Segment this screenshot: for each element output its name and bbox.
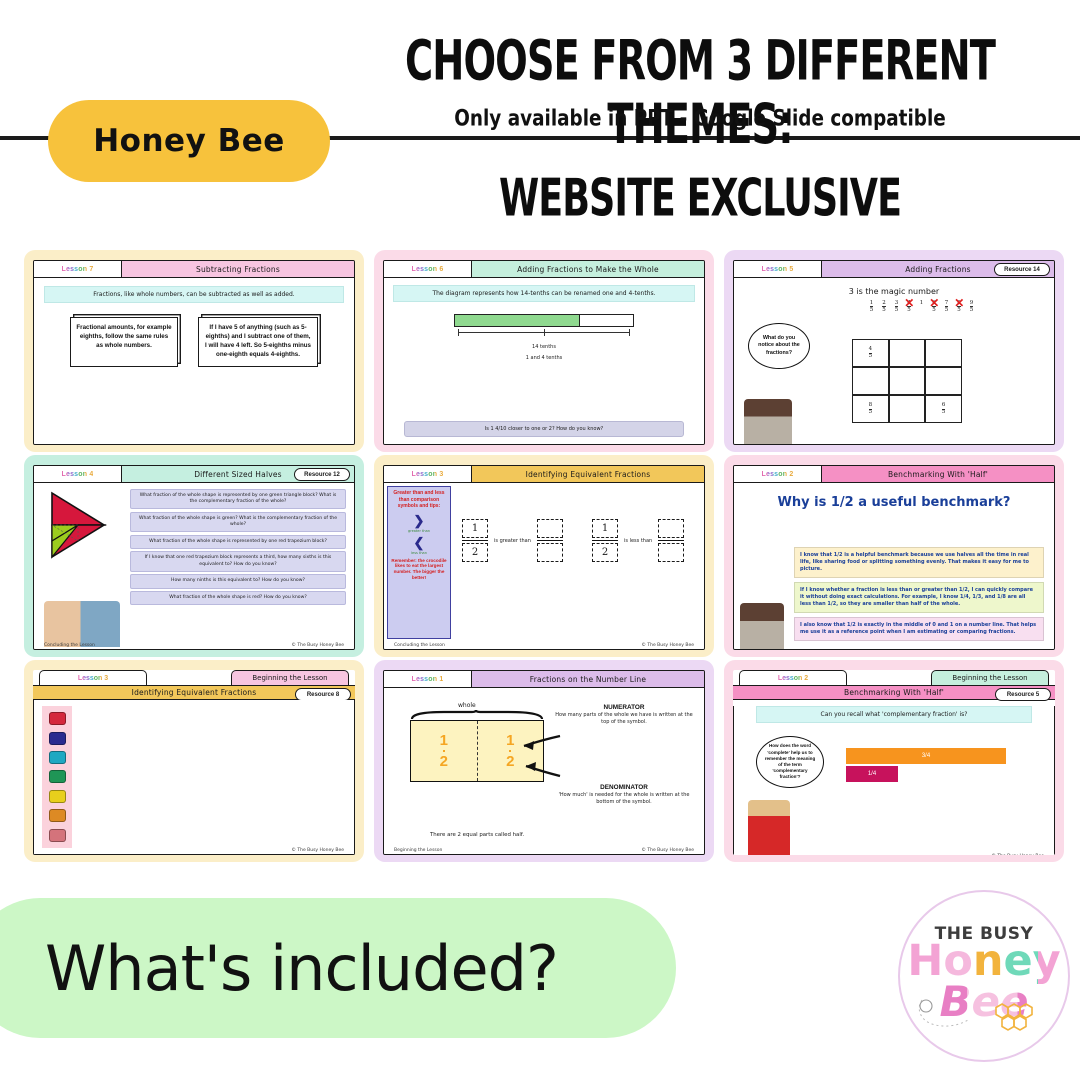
denominator-text: 'How much' is needed for the whole is wr…: [552, 792, 696, 806]
numerator-box[interactable]: [537, 519, 563, 538]
slide-footer-right: © The Busy Honey Bee: [991, 854, 1044, 855]
student-photo: [748, 800, 790, 855]
speech-bubble: How does the word 'complete' help us to …: [756, 736, 824, 788]
question-list: What fraction of the whole shape is repr…: [130, 489, 346, 608]
fraction-item: 25: [882, 300, 886, 313]
bar-orange: 3/4: [846, 748, 1006, 764]
color-swatch[interactable]: [49, 732, 66, 745]
question-item: What fraction of the whole shape is repr…: [130, 535, 346, 549]
magic-square-cell[interactable]: [889, 395, 926, 423]
denominator-box[interactable]: 2: [462, 543, 488, 562]
magic-square-cell[interactable]: [925, 339, 962, 367]
bar-pink: 1/4: [846, 766, 898, 782]
denominator-box[interactable]: [537, 543, 563, 562]
statement-box: If I know whether a fraction is less tha…: [794, 582, 1044, 613]
comparison-label: is less than: [624, 537, 652, 545]
lesson-badge: Lesson 2: [734, 466, 822, 482]
bee-trail-icon: [914, 990, 974, 1034]
bar-label-b: 1 and 4 tenths: [384, 355, 704, 361]
pattern-block-shape-icon: [42, 489, 124, 561]
slide-heading: Why is 1/2 a useful benchmark?: [734, 495, 1054, 510]
fraction-sequence: 15253545✕165✕7585✕95: [734, 300, 1054, 313]
lesson-badge: Lesson 6: [384, 261, 472, 277]
slide-thumbnail[interactable]: Lesson 4 Different Sized Halves Resource…: [24, 455, 364, 657]
color-swatch[interactable]: [49, 712, 66, 725]
lesson-badge: Lesson 2: [739, 670, 847, 685]
slide-title: Identifying Equivalent Fractions: [472, 470, 704, 479]
slide-thumbnail[interactable]: Lesson 6 Adding Fractions to Make the Wh…: [374, 250, 714, 452]
page-subtitle: Only available in PPT - Google Slide com…: [383, 104, 1018, 131]
arrows-icon: [502, 728, 564, 790]
lesson-badge: Lesson 7: [34, 261, 122, 277]
slide-title: Adding Fractions to Make the Whole: [472, 265, 704, 274]
question-item: What fraction of the whole shape is red?…: [130, 591, 346, 605]
tips-heading: Greater than and less than comparison sy…: [391, 490, 447, 510]
brand-logo: THE BUSY Honey Bee: [898, 890, 1070, 1062]
speech-bubble: What do you notice about the fractions?: [748, 323, 810, 369]
theme-pill-honey-bee[interactable]: Honey Bee: [48, 100, 330, 182]
whole-label: whole: [458, 702, 476, 709]
greater-than-icon: ❯: [391, 513, 447, 529]
less-than-label: less than: [391, 551, 447, 555]
info-band: The diagram represents how 14-tenths can…: [393, 285, 695, 302]
question-item: What fraction of the whole shape is repr…: [130, 489, 346, 509]
magic-square-cell[interactable]: [889, 339, 926, 367]
cross-out-icon: ✕: [929, 297, 939, 311]
slide-thumbnail[interactable]: Lesson 3 Beginning the Lesson Identifyin…: [24, 660, 364, 862]
fraction-bar-model: [454, 314, 634, 339]
lesson-badge: Lesson 3: [384, 466, 472, 482]
page-header: Honey Bee CHOOSE FROM 3 DIFFERENT THEMES…: [0, 0, 1080, 232]
slide-thumbnail[interactable]: Lesson 1 Fractions on the Number Line wh…: [374, 660, 714, 862]
comparison-row-2: 1 2 is less than: [592, 519, 684, 562]
lesson-stage-tab[interactable]: Beginning the Lesson: [931, 670, 1049, 685]
slide-footer-right: © The Busy Honey Bee: [291, 848, 344, 853]
note-card-left: Fractional amounts, for example eighths,…: [70, 317, 178, 367]
greater-than-label: greater than: [391, 529, 447, 533]
comparison-row-1: 1 2 is greater than: [462, 519, 563, 562]
fraction-item: 75: [945, 300, 949, 313]
fraction-item: 65✕: [932, 300, 936, 313]
lesson-badge: Lesson 4: [34, 466, 122, 482]
website-exclusive-label: WEBSITE EXCLUSIVE: [369, 168, 1031, 227]
bar-label-a: 14 tenths: [384, 344, 704, 350]
remember-note: Remember: the crocodile likes to eat the…: [391, 558, 447, 582]
magic-square-cell[interactable]: 85: [852, 395, 889, 423]
magic-square-cell[interactable]: 65: [925, 395, 962, 423]
info-band: Fractions, like whole numbers, can be su…: [44, 286, 344, 303]
statement-box: I know that 1/2 is a helpful benchmark b…: [794, 547, 1044, 578]
slide-thumbnail[interactable]: Lesson 2 Benchmarking With 'Half' Why is…: [724, 455, 1064, 657]
brace-icon: [410, 710, 544, 720]
color-swatch[interactable]: [49, 770, 66, 783]
resource-badge[interactable]: Resource 14: [994, 263, 1050, 276]
slide-footer-left: Concluding the Lesson: [394, 643, 445, 648]
info-band: Can you recall what 'complementary fract…: [756, 706, 1032, 723]
slide-footer-left: Concluding the Lesson: [44, 643, 95, 648]
students-photo: [44, 601, 120, 647]
whats-included-banner: What's included?: [0, 898, 676, 1038]
color-swatch[interactable]: [49, 809, 66, 822]
fraction-item: 1: [920, 300, 924, 313]
slide-footer-right: © The Busy Honey Bee: [641, 848, 694, 853]
theme-pill-label: Honey Bee: [93, 123, 285, 159]
slide-footer-right: © The Busy Honey Bee: [641, 643, 694, 648]
question-item: If I know that one red trapezium block r…: [130, 551, 346, 571]
slide-grid: Lesson 7 Subtracting Fractions Fractions…: [24, 250, 1064, 862]
resource-badge[interactable]: Resource 12: [294, 468, 350, 481]
numerator-text: How many parts of the whole we have is w…: [552, 712, 696, 726]
slide-thumbnail[interactable]: Lesson 5 Adding Fractions Resource 14 3 …: [724, 250, 1064, 452]
slide-thumbnail[interactable]: Lesson 2 Beginning the Lesson Benchmarki…: [724, 660, 1064, 862]
lesson-badge: Lesson 5: [734, 261, 822, 277]
numerator-heading: NUMERATOR: [552, 704, 696, 711]
comparison-label: is greater than: [494, 537, 531, 545]
magic-square-cell[interactable]: [852, 367, 889, 395]
magic-square-grid: 458565: [852, 339, 962, 423]
color-swatch[interactable]: [49, 790, 66, 803]
slide-title: Subtracting Fractions: [122, 265, 354, 274]
numerator-box[interactable]: 1: [462, 519, 488, 538]
color-swatch[interactable]: [49, 829, 66, 842]
statement-box: I also know that 1/2 is exactly in the m…: [794, 617, 1044, 641]
slide-thumbnail[interactable]: Lesson 7 Subtracting Fractions Fractions…: [24, 250, 364, 452]
lesson-badge: Lesson 1: [384, 671, 472, 687]
lesson-badge: Lesson 3: [39, 670, 147, 685]
numerator-box[interactable]: 1: [592, 519, 618, 538]
fraction-item: 15: [870, 300, 874, 313]
lesson-stage-tab[interactable]: Beginning the Lesson: [231, 670, 349, 685]
color-swatch[interactable]: [49, 751, 66, 764]
discussion-question: Is 1 4/10 closer to one or 2? How do you…: [404, 421, 684, 437]
resource-badge[interactable]: Resource 5: [995, 688, 1051, 701]
denominator-heading: DENOMINATOR: [552, 784, 696, 791]
less-than-icon: ❮: [391, 535, 447, 551]
slide-footer-left: Beginning the Lesson: [394, 848, 442, 853]
slide-title: Benchmarking With 'Half': [822, 470, 1054, 479]
teacher-photo: [740, 603, 784, 650]
magic-number-text: 3 is the magic number: [734, 287, 1054, 296]
teacher-photo: [744, 399, 792, 445]
fraction-item: 45✕: [907, 300, 911, 313]
whats-included-label: What's included?: [45, 932, 558, 1005]
bottom-note: There are 2 equal parts called half.: [412, 832, 542, 838]
denominator-box[interactable]: [658, 543, 684, 562]
tips-sidebar: Greater than and less than comparison sy…: [387, 486, 451, 639]
magic-square-cell[interactable]: [889, 367, 926, 395]
question-item: How many ninths is this equivalent to? H…: [130, 574, 346, 588]
fraction-item: 85✕: [957, 300, 961, 313]
numerator-box[interactable]: [658, 519, 684, 538]
fraction-item: 35: [895, 300, 899, 313]
fraction-left: 12: [440, 733, 448, 769]
color-swatch-palette[interactable]: [42, 706, 72, 848]
magic-square-cell[interactable]: [925, 367, 962, 395]
page-title: CHOOSE FROM 3 DIFFERENT THEMES:: [369, 30, 1031, 157]
magic-square-cell[interactable]: 45: [852, 339, 889, 367]
denominator-box[interactable]: 2: [592, 543, 618, 562]
statement-list: I know that 1/2 is a helpful benchmark b…: [794, 547, 1044, 645]
slide-thumbnail[interactable]: Lesson 3 Identifying Equivalent Fraction…: [374, 455, 714, 657]
cross-out-icon: ✕: [954, 297, 964, 311]
slide-title: Fractions on the Number Line: [472, 675, 704, 684]
honeycomb-icon: [994, 1002, 1038, 1032]
note-card-right: If I have 5 of anything (such as 5-eight…: [198, 317, 318, 367]
slide-footer-right: © The Busy Honey Bee: [291, 643, 344, 648]
question-item: What fraction of the whole shape is gree…: [130, 512, 346, 532]
fraction-item: 95: [970, 300, 974, 313]
cross-out-icon: ✕: [904, 297, 914, 311]
